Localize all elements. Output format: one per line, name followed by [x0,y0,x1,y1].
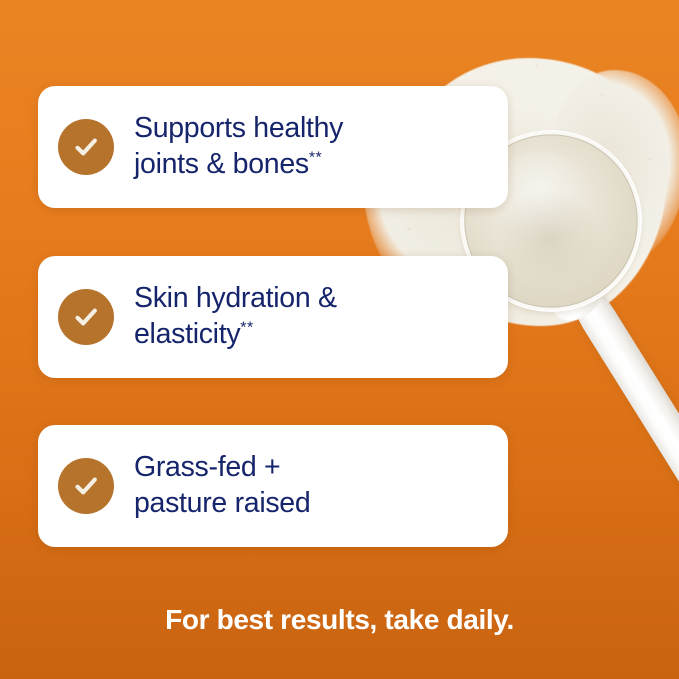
benefit-card-text: Grass-fed +pasture raised [134,450,310,522]
benefit-card-joints-bones: Supports healthyjoints & bones** [38,86,508,208]
benefit-card-skin-hydration: Skin hydration &elasticity** [38,256,508,378]
product-benefits-poster: Supports healthyjoints & bones** Skin hy… [0,0,679,679]
benefit-card-grass-fed: Grass-fed +pasture raised [38,425,508,547]
check-icon [58,458,114,514]
benefit-line-2: elasticity [134,318,240,350]
check-icon [58,119,114,175]
check-icon [58,289,114,345]
benefit-line-1: Skin hydration & [134,282,337,314]
benefit-line-1: Supports healthy [134,112,343,144]
benefit-card-text: Skin hydration &elasticity** [134,281,337,353]
benefit-card-text: Supports healthyjoints & bones** [134,111,343,183]
benefit-card-list: Supports healthyjoints & bones** Skin hy… [0,0,679,679]
benefit-line-1: Grass-fed + [134,451,280,483]
benefit-superscript: ** [240,320,253,337]
benefit-line-2: joints & bones [134,148,309,180]
footer-note: For best results, take daily. [0,604,679,636]
benefit-line-2: pasture raised [134,487,310,519]
benefit-superscript: ** [309,150,322,167]
